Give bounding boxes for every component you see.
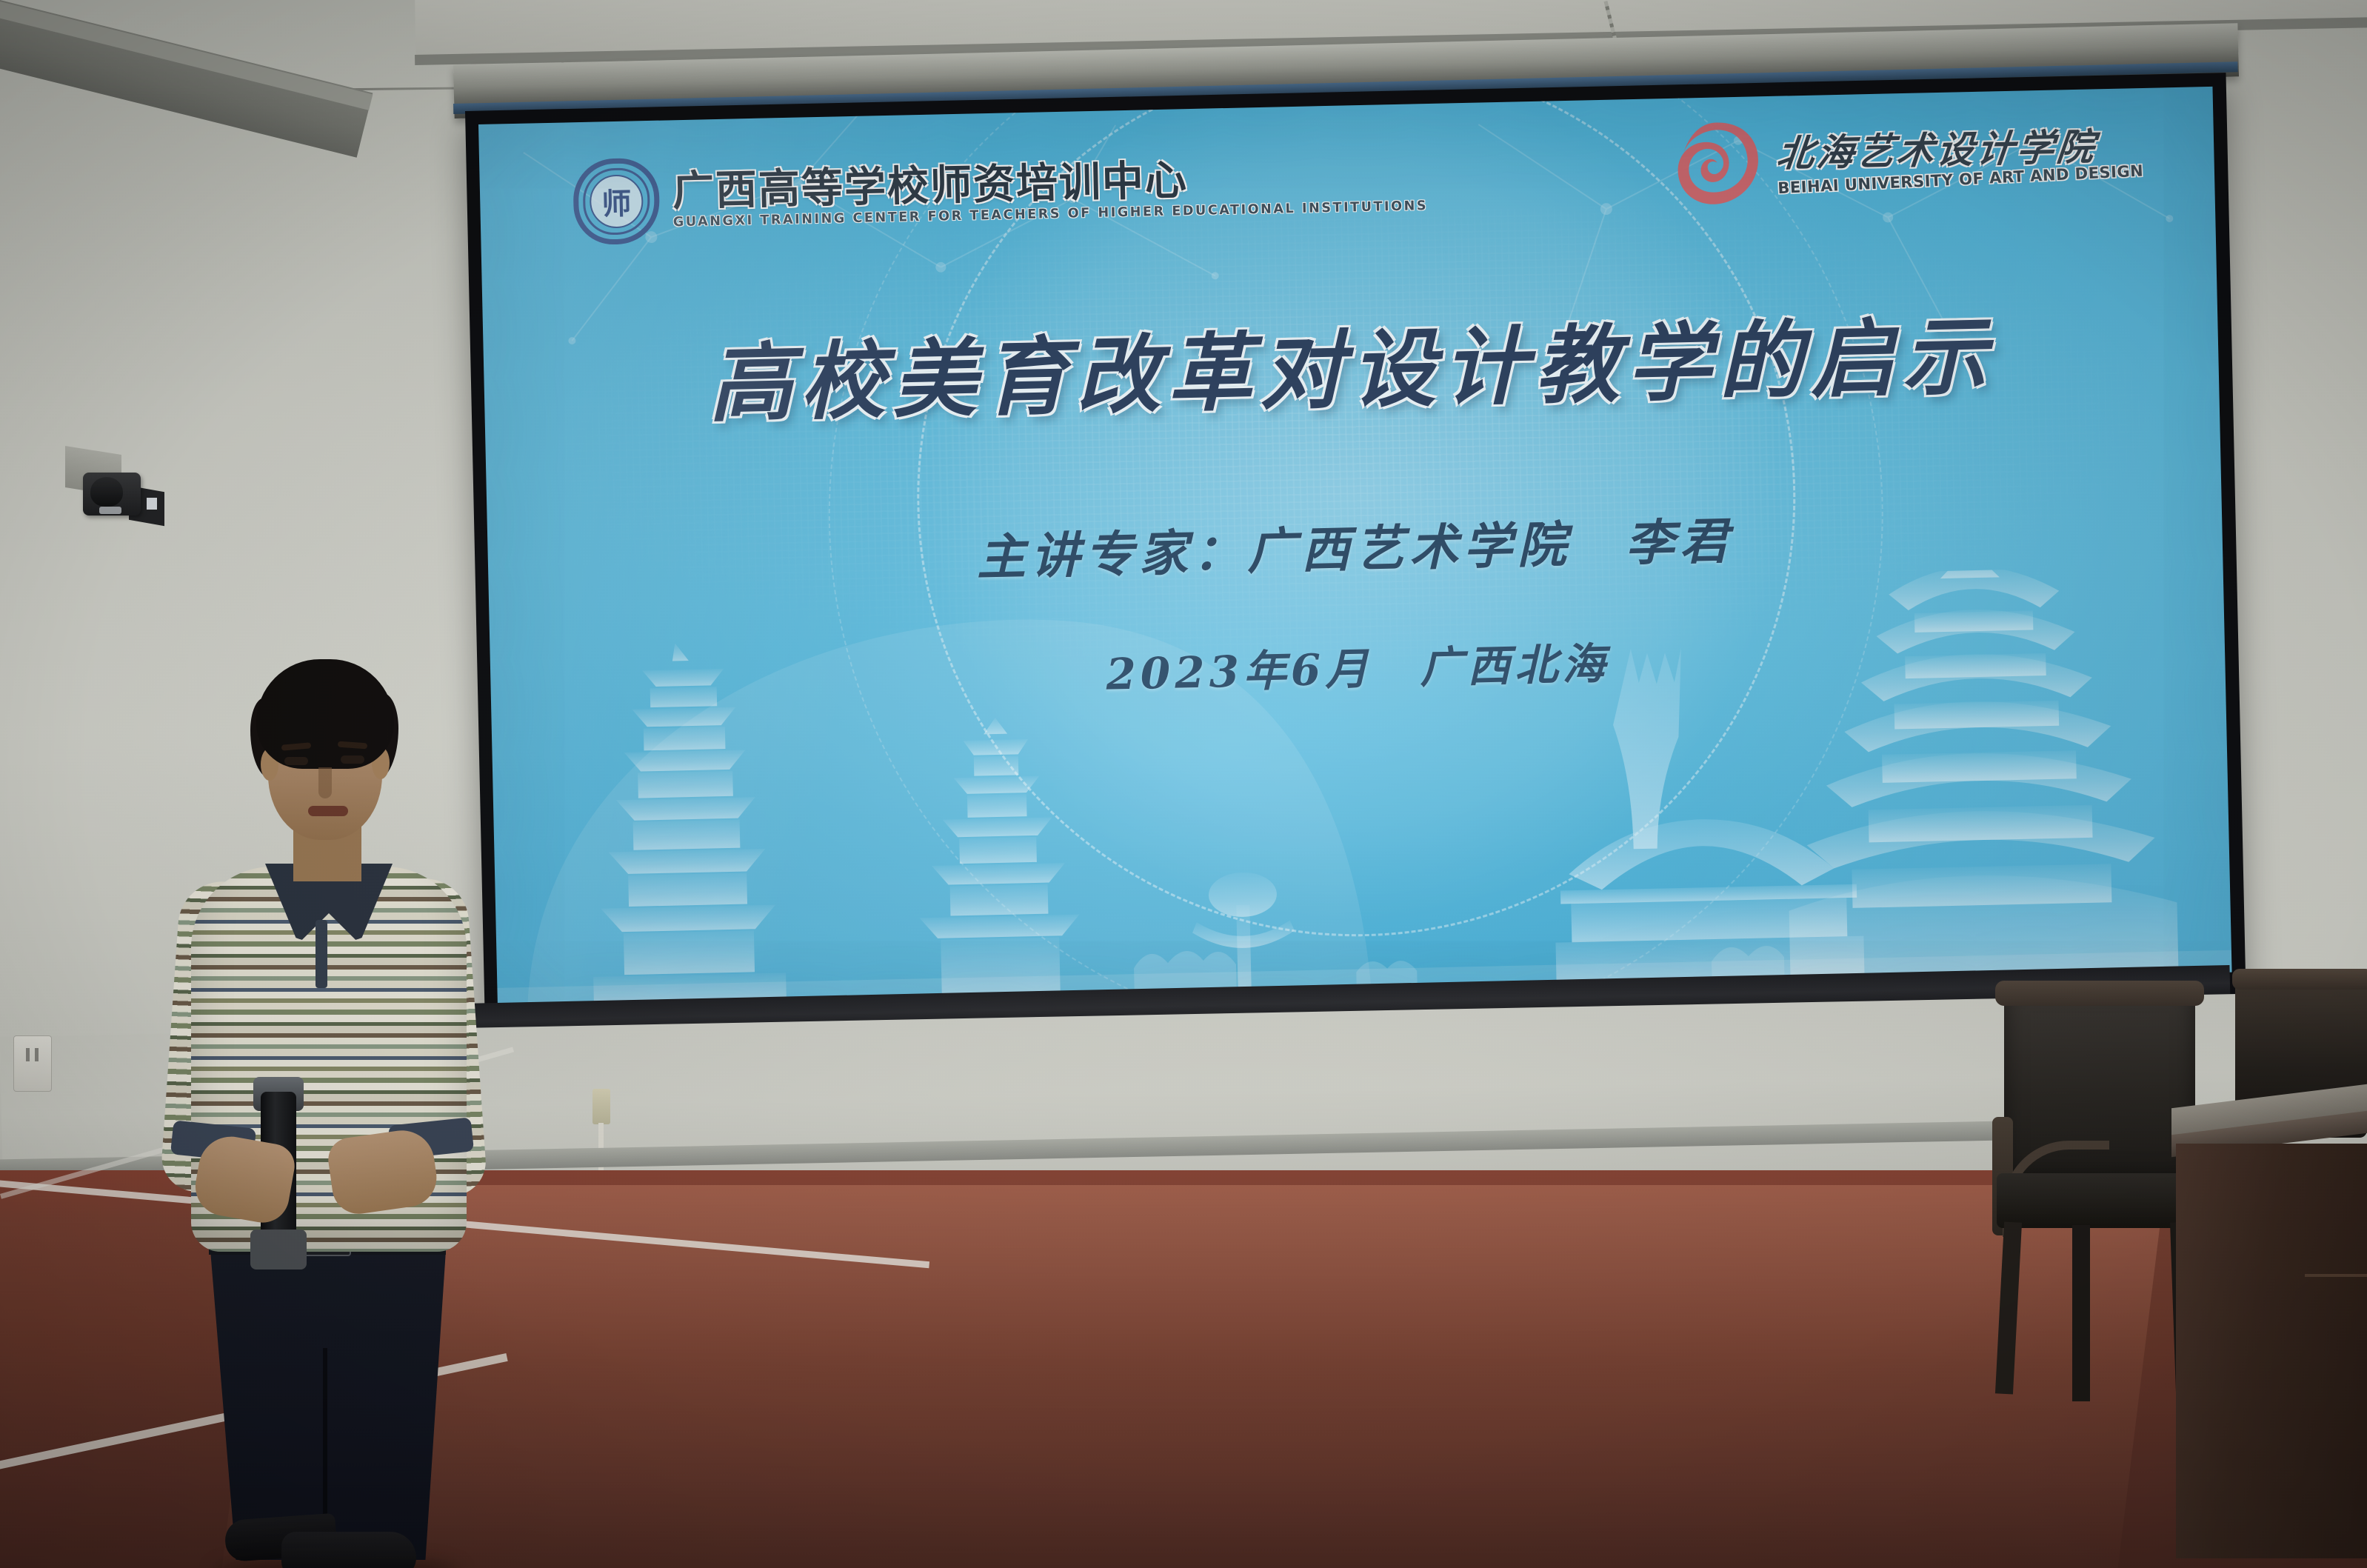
wall-outlet <box>13 1035 52 1092</box>
beihai-logo-text: 北海艺术设计学院 BEIHAI UNIVERSITY OF ART AND DE… <box>1776 127 2143 193</box>
guangxi-emblem-icon: 师 <box>572 158 661 246</box>
camera-highlight <box>99 507 121 514</box>
beihai-swirl-icon <box>1669 119 1765 211</box>
floor-light-reflection <box>220 1185 2165 1568</box>
presenter-eye-right <box>341 755 364 764</box>
chair-leg-front-left <box>1995 1222 2022 1395</box>
camera-body <box>83 473 141 516</box>
lecture-room-photo: 师 广西高等学校师资培训中心 GUANGXI TRAINING CENTER F… <box>0 0 2367 1568</box>
camera-lens-icon <box>90 477 123 507</box>
presenter-shoe-right <box>281 1532 416 1568</box>
chair-leg-front-right <box>2072 1225 2090 1401</box>
slide-presenter-line: 主讲专家：广西艺术学院 李君 <box>487 491 2223 600</box>
guangxi-logo-text: 广西高等学校师资培训中心 GUANGXI TRAINING CENTER FOR… <box>672 155 1428 230</box>
presenter-nose <box>318 767 332 798</box>
desk-body <box>2176 1144 2367 1558</box>
camera-led <box>147 498 157 510</box>
ptz-camera <box>83 459 154 523</box>
presenter-placket <box>316 920 327 988</box>
presenter-eye-left <box>284 757 308 765</box>
chair-crest-rail <box>1995 981 2204 1006</box>
presenter <box>170 659 481 1568</box>
guangxi-emblem-char: 师 <box>572 158 661 246</box>
chair-secondary-crest <box>2232 969 2367 990</box>
screen-wall-clip <box>592 1089 610 1124</box>
guangxi-training-center-logo: 师 广西高等学校师资培训中心 GUANGXI TRAINING CENTER F… <box>572 141 1429 245</box>
presenter-mouth <box>308 806 348 816</box>
projected-slide: 师 广西高等学校师资培训中心 GUANGXI TRAINING CENTER F… <box>478 87 2232 1010</box>
microphone-base <box>250 1230 307 1270</box>
desk-panel-line <box>2305 1274 2367 1277</box>
lectern-desk <box>2171 1096 2367 1568</box>
presenter-hair <box>256 659 394 769</box>
beihai-university-logo: 北海艺术设计学院 BEIHAI UNIVERSITY OF ART AND DE… <box>1669 110 2144 211</box>
slide-title-block: 高校美育改革对设计教学的启示 主讲专家：广西艺术学院 李君 2023年6月 广西… <box>484 309 2226 715</box>
